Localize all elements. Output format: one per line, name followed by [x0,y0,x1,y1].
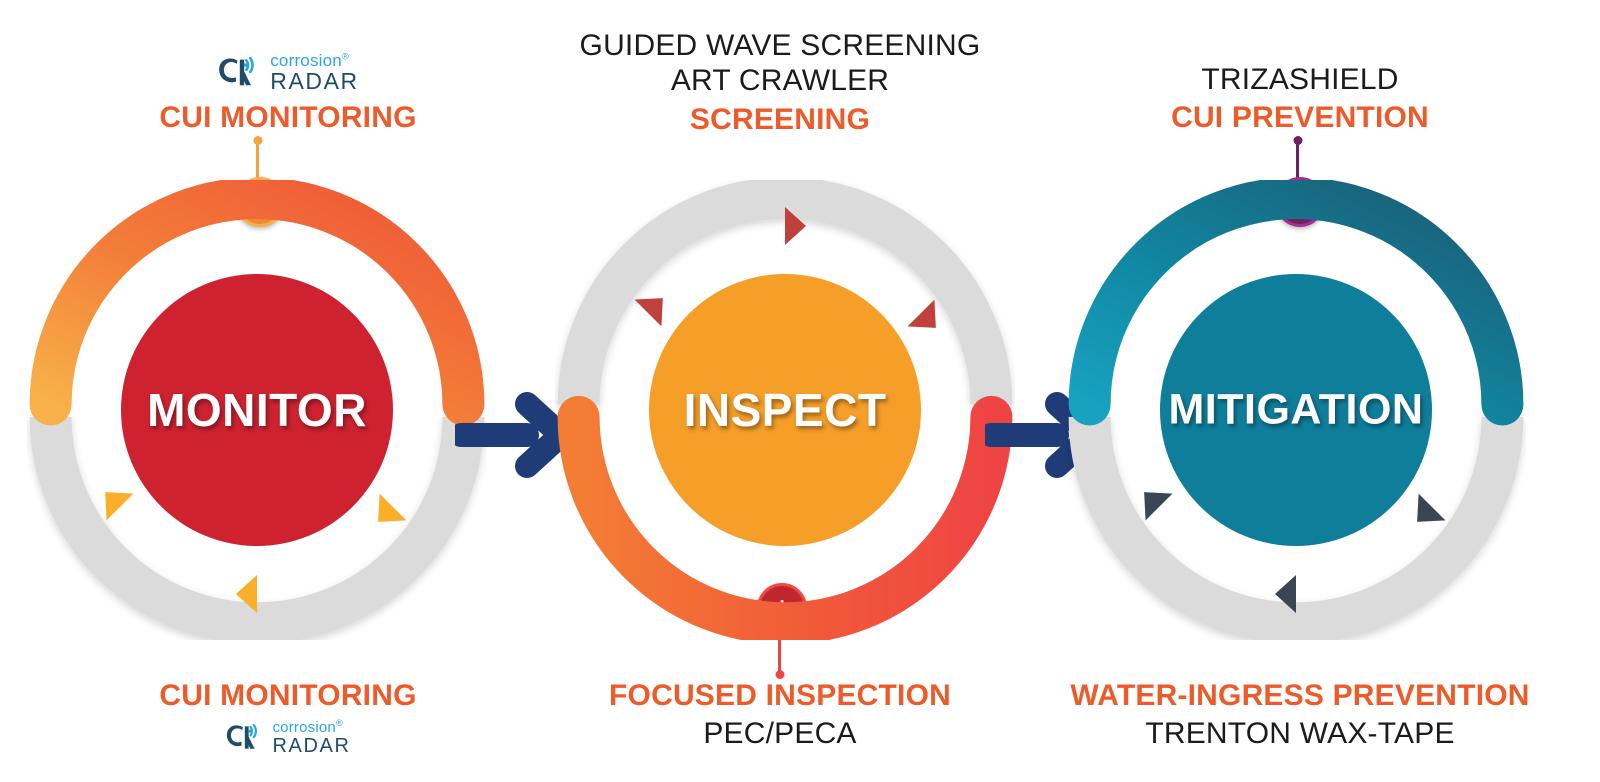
logo-word-bottom-bottom: RADAR [272,736,350,756]
caption-inspect-top: GUIDED WAVE SCREENING ART CRAWLER SCREEN… [555,28,1005,137]
wheel-mitigation-hub [1160,274,1432,546]
leader-line-mitigation [1296,140,1299,180]
caption-mitigation-bottom-accent: WATER-INGRESS PREVENTION [1050,678,1550,713]
caption-inspect-bottom: FOCUSED INSPECTION PEC/PECA [555,678,1005,752]
caption-mitigation-top: TRIZASHIELD CUI PREVENTION [1070,62,1530,136]
wheel-monitor[interactable]: MONITOR [27,180,487,640]
wheel-monitor-hub [121,274,393,546]
leader-dot-mitigation [1293,136,1302,145]
caption-inspect-top-line2: ART CRAWLER [555,63,1005,98]
caption-monitor-top: corrosion® RADAR CUI MONITORING [43,52,533,136]
wheel-mitigation[interactable]: MITIGATION [1066,180,1526,640]
wheel-inspect-hub [649,274,921,546]
caption-monitor-bottom: CUI MONITORING corrosion® RADAR [43,678,533,758]
infographic-canvas: corrosion® RADAR CUI MONITORING GUIDED W… [0,0,1600,782]
corrosion-radar-logo-icon-bottom: corrosion® RADAR [225,719,350,756]
caption-monitor-bottom-accent: CUI MONITORING [43,678,533,713]
logo-word-top-bottom: corrosion® [272,719,342,735]
caption-monitor-top-accent: CUI MONITORING [43,100,533,135]
caption-mitigation-top-line1: TRIZASHIELD [1070,62,1530,97]
logo-word-bottom: RADAR [270,70,359,93]
logo-word-top: corrosion® [270,52,349,69]
caption-inspect-bottom-accent: FOCUSED INSPECTION [555,678,1005,713]
caption-inspect-bottom-line1: PEC/PECA [555,716,1005,751]
caption-mitigation-bottom: WATER-INGRESS PREVENTION TRENTON WAX-TAP… [1050,678,1550,752]
caption-inspect-top-accent: SCREENING [555,102,1005,137]
caption-mitigation-bottom-line1: TRENTON WAX-TAPE [1050,716,1550,751]
caption-mitigation-top-accent: CUI PREVENTION [1070,100,1530,135]
leader-dot-monitor [253,136,262,145]
caption-inspect-top-line1: GUIDED WAVE SCREENING [555,28,1005,63]
wheel-inspect[interactable]: INSPECT [555,180,1015,640]
corrosion-radar-logo-icon: corrosion® RADAR [217,52,359,93]
